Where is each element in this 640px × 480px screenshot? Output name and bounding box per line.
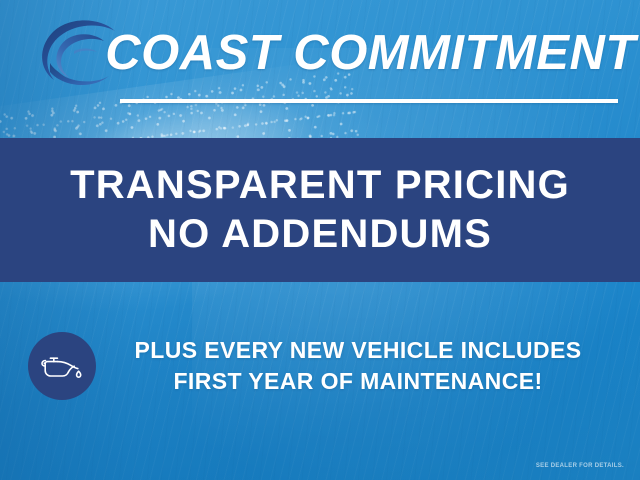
promise-band: TRANSPARENT PRICING NO ADDENDUMS bbox=[0, 138, 640, 282]
promo-line-2: FIRST YEAR OF MAINTENANCE! bbox=[102, 366, 614, 397]
banner-header: COAST COMMITMENT bbox=[0, 0, 640, 138]
promo-line-1: PLUS EVERY NEW VEHICLE INCLUDES bbox=[102, 335, 614, 366]
coast-commitment-banner: COAST COMMITMENT TRANSPARENT PRICING NO … bbox=[0, 0, 640, 480]
header-divider-rule bbox=[120, 99, 618, 103]
transparent-pricing-text: TRANSPARENT PRICING bbox=[70, 163, 570, 208]
maintenance-promo: PLUS EVERY NEW VEHICLE INCLUDES FIRST YE… bbox=[0, 324, 640, 408]
no-addendums-text: NO ADDENDUMS bbox=[148, 212, 492, 257]
page-title: COAST COMMITMENT bbox=[118, 19, 623, 87]
oil-can-icon bbox=[28, 332, 96, 400]
disclaimer-text: SEE DEALER FOR DETAILS. bbox=[536, 463, 624, 469]
promo-text-block: PLUS EVERY NEW VEHICLE INCLUDES FIRST YE… bbox=[96, 335, 640, 396]
